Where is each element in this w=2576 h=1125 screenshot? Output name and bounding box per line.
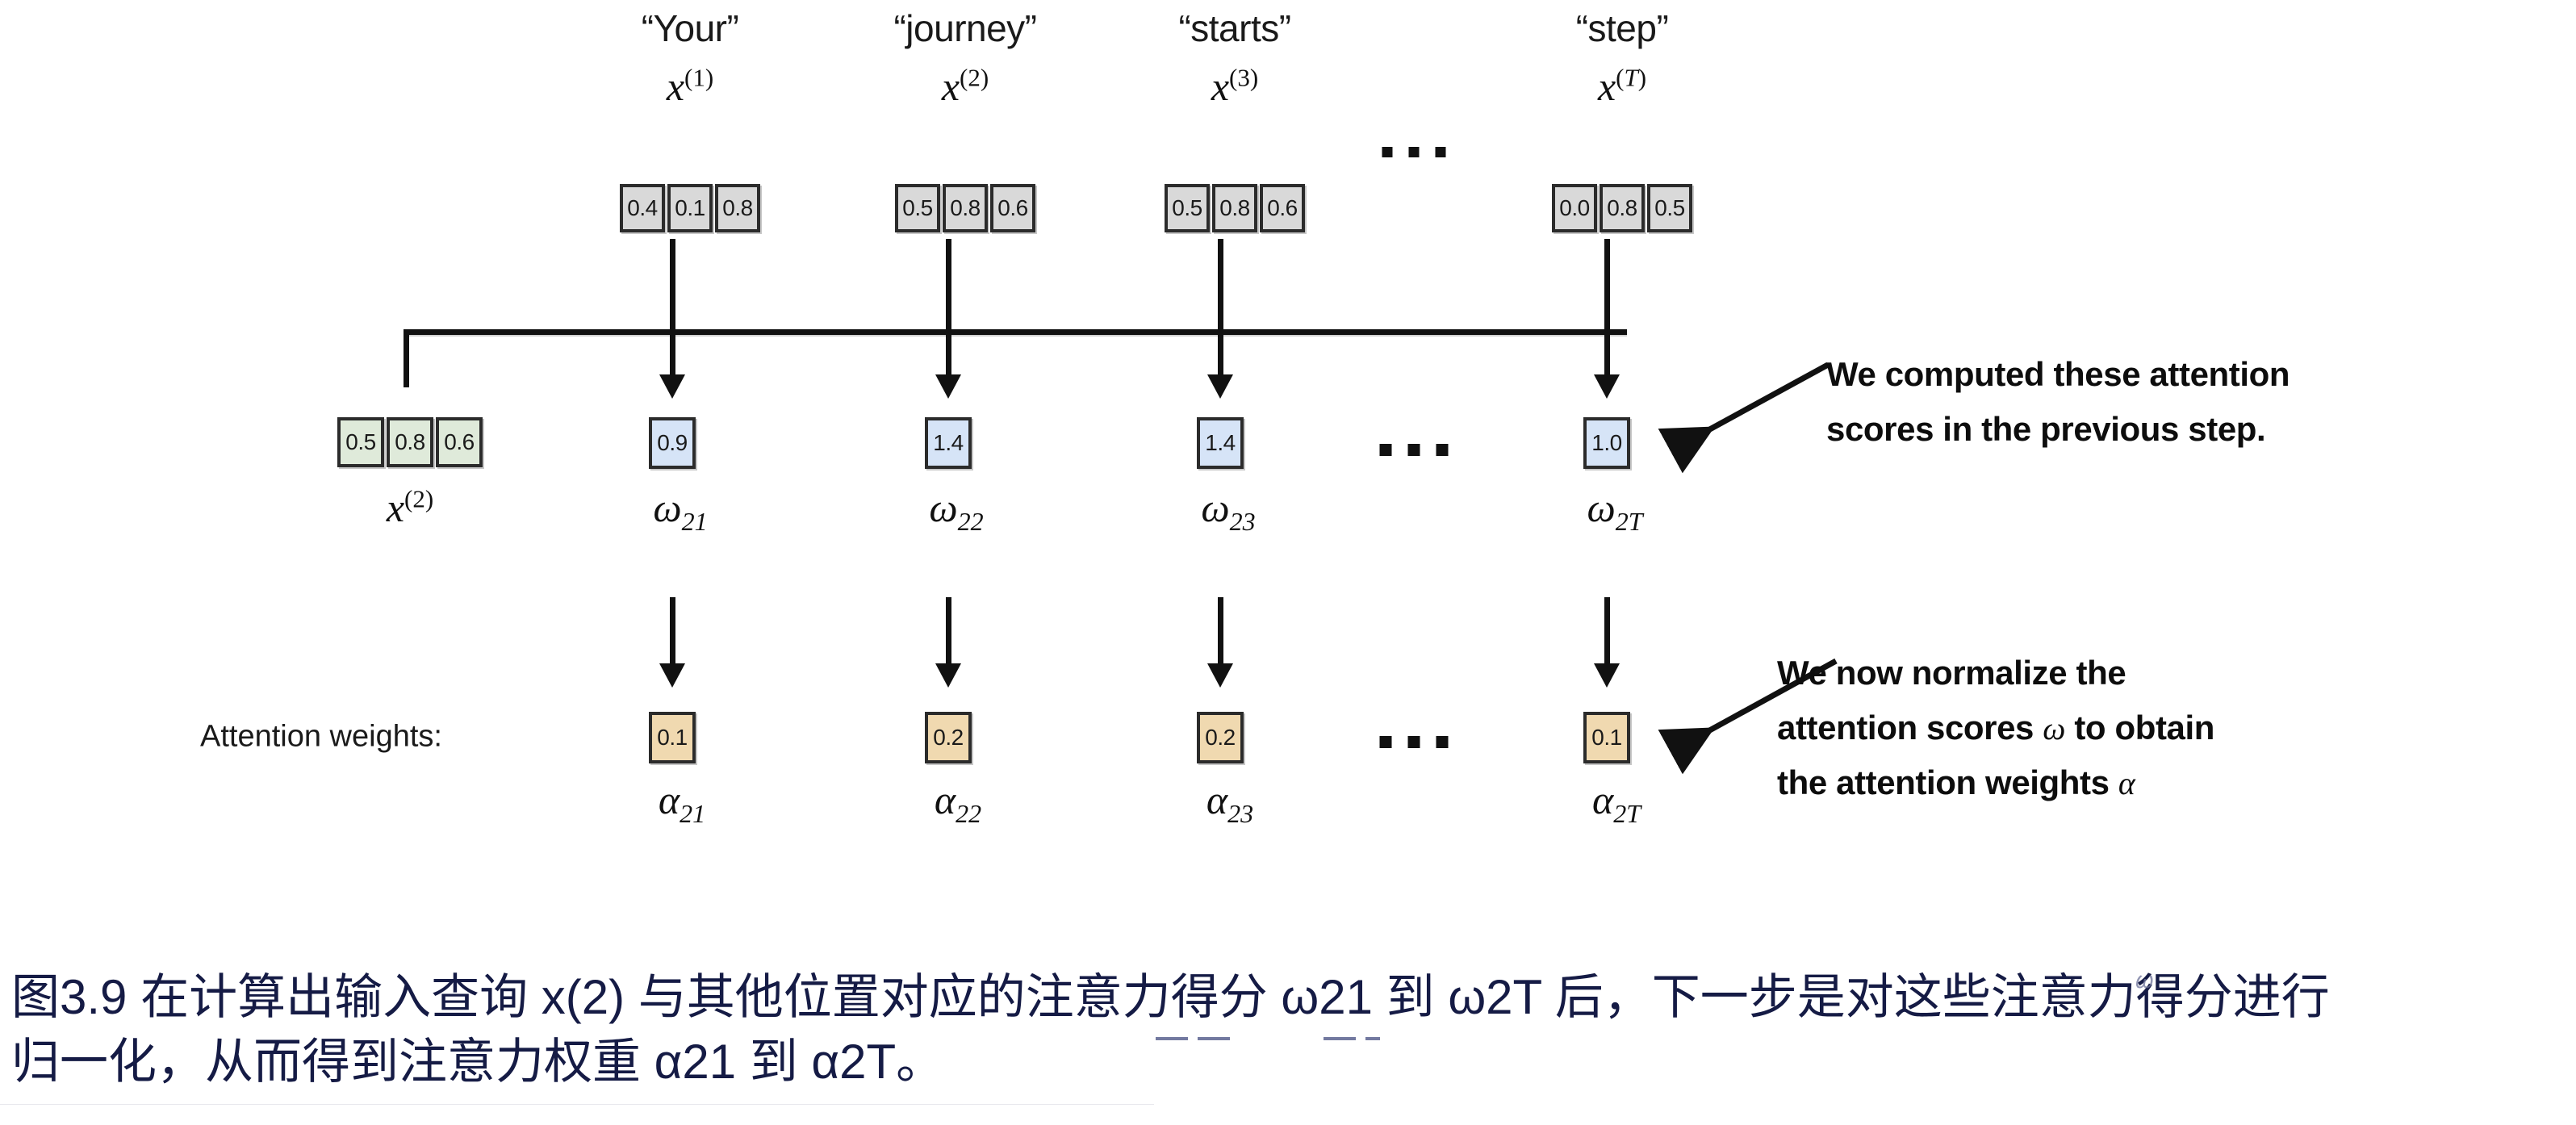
weight-label-3: α2T (1592, 776, 1641, 823)
query-value-cell: 0.5 (337, 417, 384, 467)
annotation-scores: We computed these attention scores in th… (1826, 347, 2290, 457)
annotation-arrow-scores (1662, 355, 1840, 460)
attention-score-box-3: 1.0 (1583, 417, 1630, 469)
input-vector-1: 0.5 0.8 0.6 (895, 184, 1035, 232)
attention-weights-row-label: Attention weights: (200, 720, 442, 755)
query-vector: 0.5 0.8 0.6 (337, 417, 483, 467)
attention-weight-box-0: 0.1 (649, 712, 696, 763)
input-value-cell: 0.5 (1165, 184, 1210, 232)
input-value-cell: 0.4 (620, 184, 665, 232)
input-vector-0: 0.4 0.1 0.8 (620, 184, 760, 232)
attention-weight-box-3: 0.1 (1583, 712, 1630, 763)
input-value-cell: 0.8 (1212, 184, 1257, 232)
input-vector-2: 0.5 0.8 0.6 (1165, 184, 1305, 232)
ellipsis-top (1382, 147, 1446, 157)
weight-value-cell: 0.1 (649, 712, 696, 763)
score-value-cell: 1.4 (1197, 417, 1244, 469)
token-word-0: “Your” (642, 6, 739, 50)
figure-caption-line2: 归一化，从而得到注意力权重 α21 到 α2T。 (11, 1030, 2570, 1094)
annotation-scores-line2: scores in the previous step. (1826, 402, 2290, 457)
ellipsis-scores (1380, 444, 1449, 456)
input-value-cell: 0.5 (895, 184, 940, 232)
token-word-1: “journey” (893, 6, 1036, 50)
input-value-cell: 0.5 (1647, 184, 1692, 232)
annotation-scores-line1: We computed these attention (1826, 347, 2290, 402)
input-value-cell: 0.8 (1600, 184, 1645, 232)
input-value-cell: 0.8 (715, 184, 760, 232)
figure-caption: 图3.9 在计算出输入查询 x(2) 与其他位置对应的注意力得分 ω21 到 ω… (11, 965, 2570, 1094)
annotation-weights: We now normalize the attention scores ω … (1777, 646, 2214, 810)
score-label-3: ω2T (1587, 484, 1642, 531)
input-value-cell: 0.6 (1260, 184, 1305, 232)
token-symbol-2: x(3) (1211, 63, 1258, 110)
down-arrow-score-3 (1591, 597, 1623, 688)
weight-value-cell: 0.2 (925, 712, 972, 763)
caption-undermark (1198, 1037, 1230, 1040)
caption-undermark (1324, 1037, 1356, 1040)
input-value-cell: 0.1 (667, 184, 713, 232)
attention-weight-box-1: 0.2 (925, 712, 972, 763)
caption-undermark (1156, 1037, 1188, 1040)
figure-canvas: “Your” “journey” “starts” “step” x(1) x(… (0, 0, 2576, 1125)
attention-weight-box-2: 0.2 (1197, 712, 1244, 763)
bracket-vertical-left (404, 329, 409, 387)
ellipsis-weights (1380, 736, 1449, 748)
omega-symbol: ω (2043, 710, 2065, 747)
token-word-2: “starts” (1178, 6, 1290, 50)
input-vector-3: 0.0 0.8 0.5 (1552, 184, 1692, 232)
annotation-weights-line3: the attention weights α (1777, 755, 2214, 810)
weight-value-cell: 0.2 (1197, 712, 1244, 763)
attention-score-box-2: 1.4 (1197, 417, 1244, 469)
alpha-symbol: α (2118, 765, 2135, 801)
score-label-1: ω22 (929, 484, 983, 531)
annotation-weights-line1: We now normalize the (1777, 646, 2214, 701)
down-arrow-input-0 (656, 239, 688, 399)
down-arrow-input-2 (1204, 239, 1236, 399)
query-value-cell: 0.8 (387, 417, 433, 467)
token-word-3: “step” (1576, 6, 1669, 50)
weight-label-0: α21 (659, 776, 705, 823)
down-arrow-input-3 (1591, 239, 1623, 399)
score-value-cell: 0.9 (649, 417, 696, 469)
down-arrow-score-1 (932, 597, 964, 688)
score-label-2: ω23 (1201, 484, 1255, 531)
attention-score-box-1: 1.4 (925, 417, 972, 469)
figure-caption-line1: 图3.9 在计算出输入查询 x(2) 与其他位置对应的注意力得分 ω21 到 ω… (11, 965, 2570, 1030)
weight-value-cell: 0.1 (1583, 712, 1630, 763)
input-value-cell: 0.0 (1552, 184, 1597, 232)
attention-score-box-0: 0.9 (649, 417, 696, 469)
caption-hairline (0, 1104, 1154, 1105)
down-arrow-score-0 (656, 597, 688, 688)
caption-smudge-mark: 𝜔 (2135, 967, 2153, 994)
query-label: x(2) (387, 484, 433, 531)
caption-undermark (1365, 1037, 1380, 1040)
input-value-cell: 0.8 (943, 184, 988, 232)
down-arrow-score-2 (1204, 597, 1236, 688)
score-label-0: ω21 (653, 484, 707, 531)
input-value-cell: 0.6 (990, 184, 1035, 232)
weight-label-1: α22 (935, 776, 981, 823)
annotation-weights-line2: attention scores ω to obtain (1777, 701, 2214, 755)
weight-label-2: α23 (1206, 776, 1253, 823)
score-value-cell: 1.0 (1583, 417, 1630, 469)
query-value-cell: 0.6 (436, 417, 483, 467)
score-value-cell: 1.4 (925, 417, 972, 469)
token-symbol-1: x(2) (942, 63, 989, 110)
down-arrow-input-1 (932, 239, 964, 399)
token-symbol-3: x(T) (1598, 63, 1646, 110)
token-symbol-0: x(1) (667, 63, 713, 110)
bracket-horizontal (404, 329, 1627, 335)
